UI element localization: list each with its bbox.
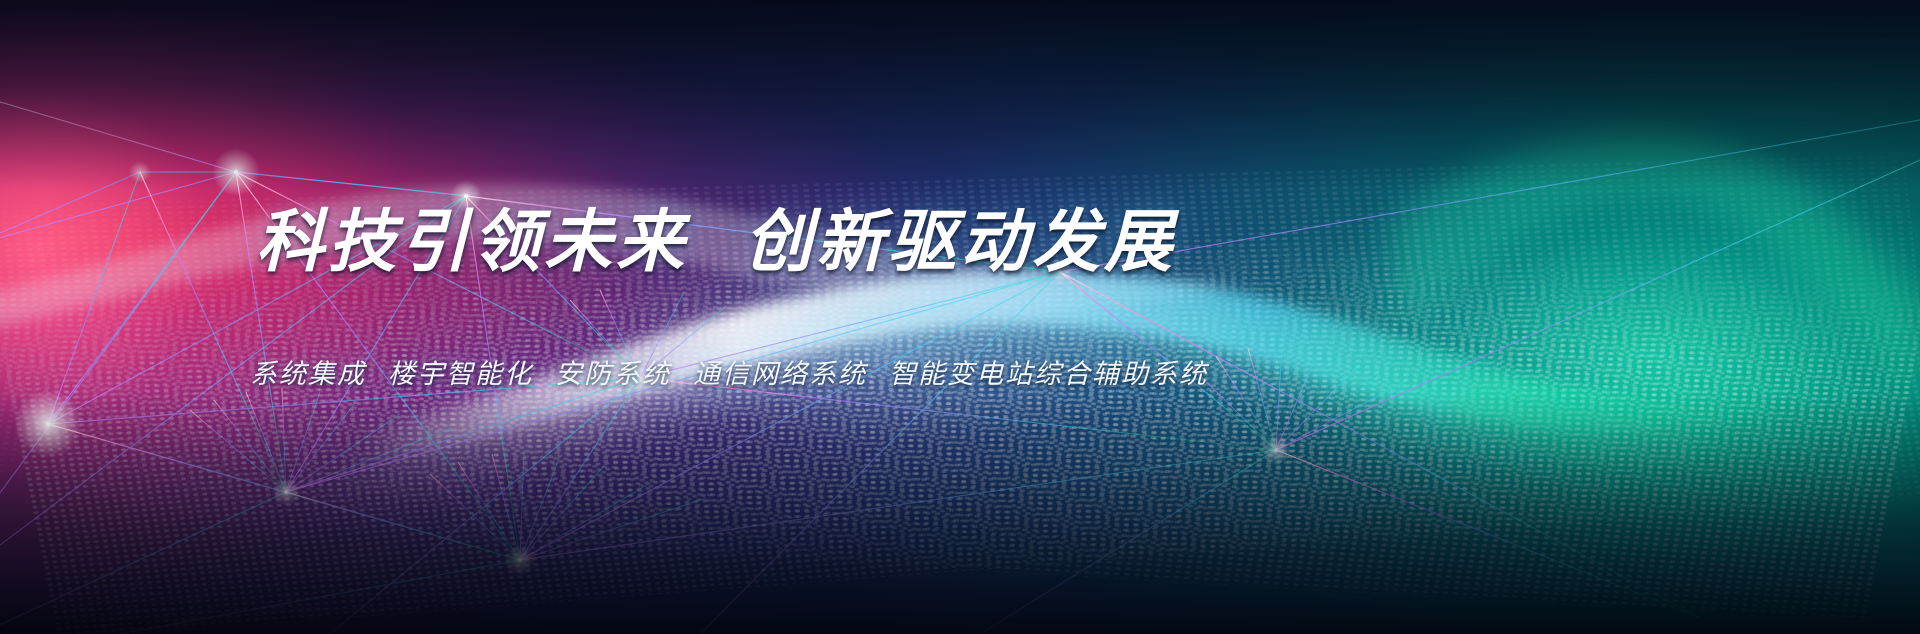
technology-hero-banner: 科技引领未来创新驱动发展 系统集成楼宇智能化安防系统通信网络系统智能变电站综合辅… <box>0 0 1920 634</box>
subtitle-item-3: 通信网络系统 <box>693 359 867 389</box>
subtitle-item-4: 智能变电站综合辅助系统 <box>889 359 1208 389</box>
headline-part-2: 创新驱动发展 <box>744 204 1176 280</box>
edge-vignette <box>0 0 1920 634</box>
page-subtitle: 系统集成楼宇智能化安防系统通信网络系统智能变电站综合辅助系统 <box>250 352 1208 391</box>
subtitle-item-2: 安防系统 <box>555 359 671 389</box>
subtitle-item-0: 系统集成 <box>250 359 366 389</box>
headline-part-1: 科技引领未来 <box>256 204 688 280</box>
page-title: 科技引领未来创新驱动发展 <box>256 186 1176 285</box>
subtitle-item-1: 楼宇智能化 <box>388 359 533 389</box>
